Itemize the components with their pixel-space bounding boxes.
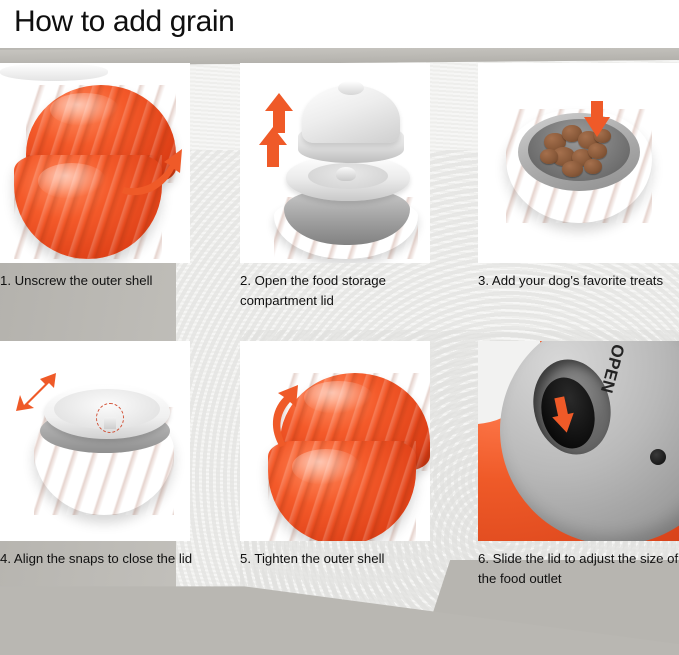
- page-title: How to add grain: [14, 2, 234, 42]
- arrow-down-icon: [582, 99, 612, 139]
- arrow-curved-right-up-icon: [118, 141, 188, 201]
- step-card-2: 2. Open the food storage compartment lid: [240, 63, 436, 311]
- step-caption-2: 2. Open the food storage compartment lid: [240, 271, 436, 311]
- steps-grid: 1. Unscrew the outer shell: [0, 63, 679, 623]
- plate-center-nub: [336, 167, 356, 181]
- exploded-lid-illustration: [240, 63, 430, 263]
- shell-highlight: [50, 93, 119, 126]
- step-image-2: [240, 63, 430, 263]
- food-outlet-closeup-illustration: OPEN: [478, 341, 679, 541]
- lid-knob: [338, 81, 364, 95]
- step-image-5: [240, 341, 430, 541]
- step-card-6: OPEN 6. Slide the lid to adjust the size…: [478, 341, 679, 589]
- ball-white-collar-inner: [0, 63, 108, 81]
- kibble-piece: [562, 161, 583, 177]
- step-image-1: [0, 63, 190, 263]
- arrow-up-icon: [256, 125, 290, 169]
- step-image-3: [478, 63, 679, 263]
- arrow-down-left-icon: [14, 367, 60, 413]
- step-caption-3: 3. Add your dog's favorite treats: [478, 271, 679, 291]
- shell-highlight: [292, 449, 360, 484]
- kibble-piece: [584, 159, 602, 174]
- step-caption-1: 1. Unscrew the outer shell: [0, 271, 196, 291]
- step-card-4: 4. Align the snaps to close the lid: [0, 341, 196, 569]
- kibble-piece: [588, 143, 607, 159]
- step-card-1: 1. Unscrew the outer shell: [0, 63, 196, 291]
- step-card-5: 5. Tighten the outer shell: [240, 341, 436, 569]
- step-caption-5: 5. Tighten the outer shell: [240, 549, 436, 569]
- snap-highlight-circle: [96, 403, 124, 433]
- shell-highlight: [304, 381, 373, 414]
- step-image-6: OPEN: [478, 341, 679, 541]
- instruction-infographic: How to add grain: [0, 0, 679, 655]
- step-caption-4: 4. Align the snaps to close the lid: [0, 549, 196, 569]
- step-caption-6: 6. Slide the lid to adjust the size of t…: [478, 549, 679, 589]
- split-ball-illustration: [0, 63, 190, 263]
- snap-align-illustration: [0, 341, 190, 541]
- shell-highlight: [38, 163, 106, 198]
- kibble-piece: [540, 149, 558, 164]
- arrow-curved-up-icon: [262, 383, 314, 449]
- split-ball-closing-illustration: [240, 341, 430, 541]
- bowl-cavity: [528, 119, 630, 181]
- outlet-indicator-dot: [650, 449, 666, 465]
- step-card-3: 3. Add your dog's favorite treats: [478, 63, 679, 291]
- ball-lower-shell: [268, 441, 416, 541]
- step-image-4: [0, 341, 190, 541]
- bowl-with-treats-illustration: [478, 63, 679, 263]
